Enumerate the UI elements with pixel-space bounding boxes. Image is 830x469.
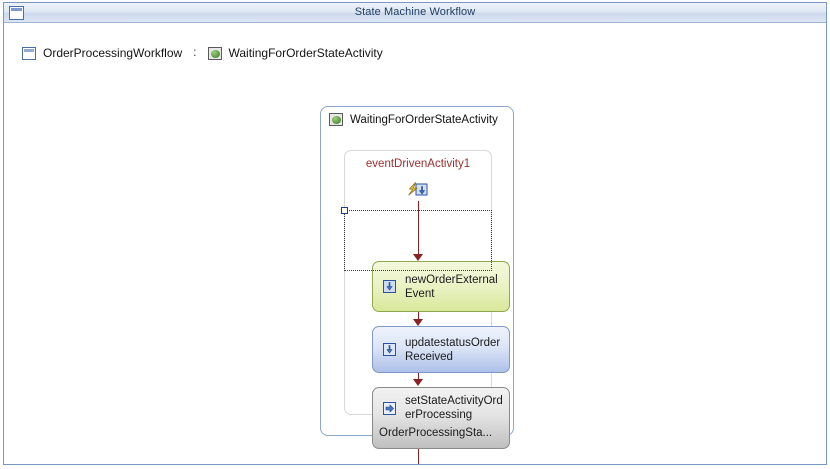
- selection-marquee[interactable]: [344, 210, 492, 271]
- event-driven-activity-container[interactable]: eventDrivenActivity1: [344, 150, 492, 415]
- event-driven-activity-title: eventDrivenActivity1: [345, 158, 491, 170]
- connector-arrow-2: [413, 319, 423, 326]
- workflow-designer-window: State Machine Workflow OrderProcessingWo…: [3, 2, 827, 465]
- activity-label: setStateActivityOrderProcessing: [405, 394, 503, 422]
- handle-external-event-icon: [381, 278, 398, 295]
- state-activity-header: WaitingForOrderStateActivity: [329, 113, 498, 126]
- state-activity-container[interactable]: WaitingForOrderStateActivity eventDriven…: [320, 106, 514, 436]
- window-client-area: OrderProcessingWorkflow : WaitingForOrde…: [4, 23, 826, 464]
- activity-set-state-order-processing[interactable]: setStateActivityOrderProcessing OrderPro…: [372, 387, 510, 449]
- window-titlebar: State Machine Workflow: [4, 3, 826, 23]
- window-title: State Machine Workflow: [4, 3, 826, 22]
- activity-label: newOrderExternalEvent: [405, 273, 503, 301]
- screenshot-root: State Machine Workflow OrderProcessingWo…: [0, 0, 830, 469]
- activity-update-status-order-received[interactable]: updatestatusOrderReceived: [372, 326, 510, 373]
- state-activity-icon: [329, 113, 343, 126]
- window-document-icon: [9, 6, 24, 20]
- connector-arrow-3: [413, 379, 423, 386]
- activity-label: updatestatusOrderReceived: [405, 336, 503, 364]
- selection-resize-handle[interactable]: [341, 207, 348, 214]
- state-activity-title: WaitingForOrderStateActivity: [350, 114, 498, 126]
- event-driven-lightning-icon: [408, 182, 428, 200]
- activity-primary-row: setStateActivityOrderProcessing: [373, 388, 509, 422]
- handle-external-event-icon: [381, 341, 398, 358]
- connector-line-4: [418, 449, 419, 464]
- activity-target-state-label: OrderProcessingSta...: [373, 422, 509, 439]
- set-state-icon: [381, 400, 398, 417]
- workflow-designer-canvas[interactable]: WaitingForOrderStateActivity eventDriven…: [4, 23, 826, 464]
